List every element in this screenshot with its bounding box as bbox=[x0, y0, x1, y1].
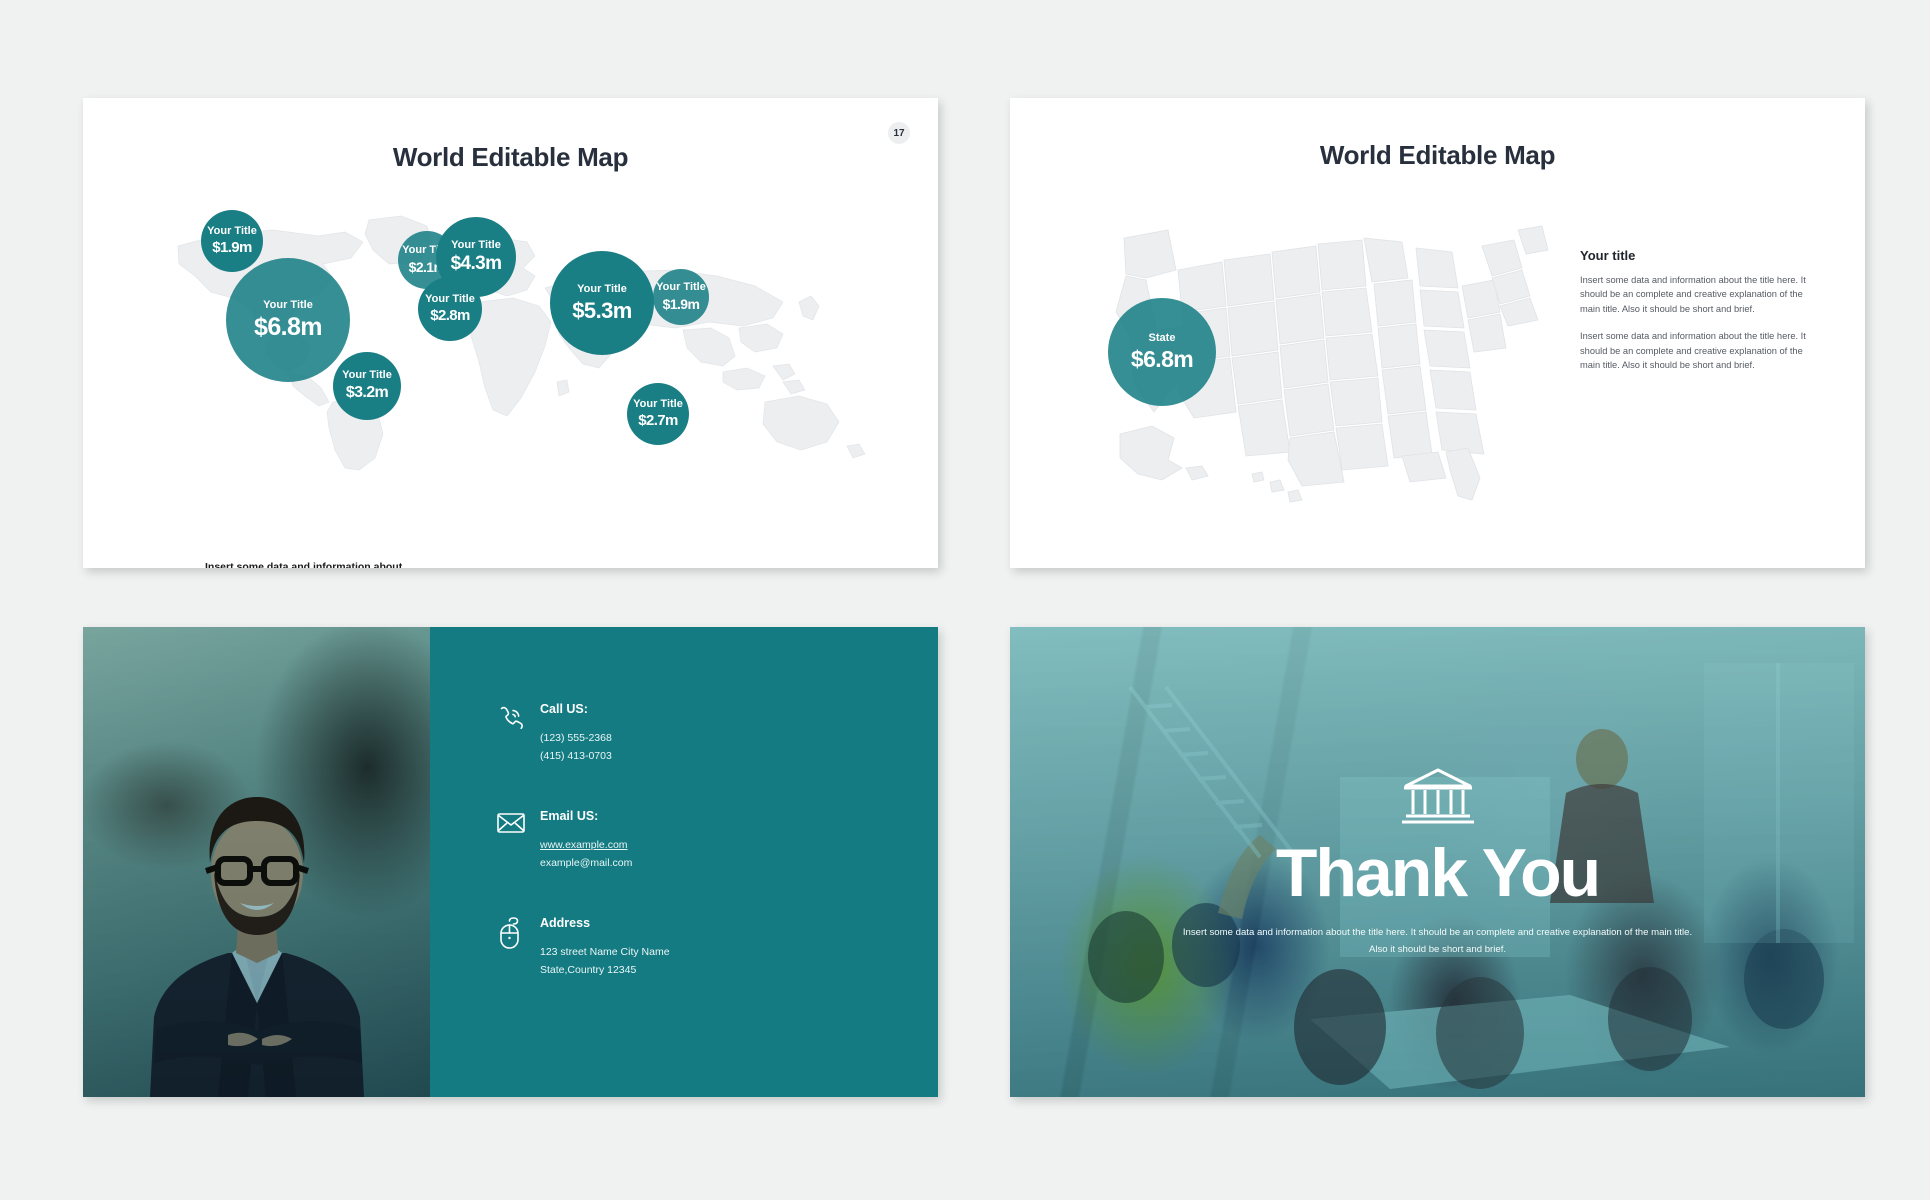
usa-state-bubble[interactable]: State $6.8m bbox=[1108, 298, 1216, 406]
contact-row-email[interactable]: Email US: www.example.com example@mail.c… bbox=[496, 808, 938, 873]
contact-line[interactable]: (415) 413-0703 bbox=[540, 747, 612, 765]
world-map-note: Insert some data and information about t… bbox=[205, 560, 405, 568]
contact-heading: Call US: bbox=[540, 702, 612, 716]
contact-heading: Address bbox=[540, 916, 670, 930]
thank-you-title: Thank You bbox=[1276, 839, 1599, 907]
page-title: World Editable Map bbox=[83, 142, 938, 173]
contact-line: State,Country 12345 bbox=[540, 961, 670, 979]
contact-line[interactable]: (123) 555-2368 bbox=[540, 729, 612, 747]
world-bubble-title: Your Title bbox=[342, 370, 392, 382]
contact-heading: Email US: bbox=[540, 809, 632, 823]
photo-teal-tint bbox=[83, 627, 430, 1097]
contact-body-phone: Call US: (123) 555-2368 (415) 413-0703 bbox=[540, 701, 612, 766]
world-bubble-value: $2.8m bbox=[430, 308, 470, 324]
contact-row-phone[interactable]: Call US: (123) 555-2368 (415) 413-0703 bbox=[496, 701, 938, 766]
world-bubble[interactable]: Your Title$6.8m bbox=[226, 258, 350, 382]
world-bubble-title: Your Title bbox=[207, 226, 257, 238]
contact-body-email: Email US: www.example.com example@mail.c… bbox=[540, 808, 632, 873]
usa-body-title: Your title bbox=[1580, 248, 1810, 263]
envelope-icon bbox=[496, 808, 540, 836]
contact-body-address: Address 123 street Name City Name State,… bbox=[540, 915, 670, 980]
slide-usa-map[interactable]: World Editable Map bbox=[1010, 98, 1865, 568]
page-number-badge: 17 bbox=[888, 122, 910, 144]
world-bubble-title: Your Title bbox=[577, 284, 627, 296]
world-bubble-title: Your Title bbox=[263, 300, 313, 312]
usa-paragraph-1: Insert some data and information about t… bbox=[1580, 273, 1810, 316]
usa-bubble-title: State bbox=[1149, 333, 1176, 345]
slide-world-map[interactable]: 17 World Editable Map bbox=[83, 98, 938, 568]
page-title: World Editable Map bbox=[1010, 140, 1865, 171]
contact-row-address[interactable]: Address 123 street Name City Name State,… bbox=[496, 915, 938, 980]
world-bubble[interactable]: Your Title$3.2m bbox=[333, 352, 401, 420]
contact-website-link[interactable]: www.example.com bbox=[540, 836, 632, 854]
world-bubble-value: $3.2m bbox=[346, 385, 388, 402]
slide-deck-canvas: 17 World Editable Map bbox=[0, 0, 1930, 1200]
world-bubble-value: $1.9m bbox=[212, 240, 252, 256]
world-bubble[interactable]: Your Title$2.8m bbox=[418, 277, 482, 341]
world-bubble-title: Your Title bbox=[633, 399, 683, 411]
phone-icon bbox=[496, 701, 540, 733]
usa-description-block: Your title Insert some data and informat… bbox=[1580, 248, 1810, 385]
world-bubble[interactable]: Your Title$1.9m bbox=[201, 210, 263, 272]
world-bubble[interactable]: Your Title$5.3m bbox=[550, 251, 654, 355]
world-bubble-title: Your Title bbox=[656, 282, 706, 294]
contact-line: 123 street Name City Name bbox=[540, 943, 670, 961]
contact-info-pane: Call US: (123) 555-2368 (415) 413-0703 E… bbox=[430, 627, 938, 1097]
world-bubble-value: $2.7m bbox=[638, 413, 678, 429]
world-bubble-value: $5.3m bbox=[572, 299, 631, 322]
usa-paragraph-2: Insert some data and information about t… bbox=[1580, 329, 1810, 372]
thank-you-content: Thank You Insert some data and informati… bbox=[1010, 627, 1865, 1097]
contact-portrait-photo bbox=[83, 627, 430, 1097]
world-bubble-title: Your Title bbox=[425, 294, 475, 306]
slide-thank-you[interactable]: Thank You Insert some data and informati… bbox=[1010, 627, 1865, 1097]
world-bubble-title: Your Title bbox=[451, 240, 501, 252]
world-bubble-value: $6.8m bbox=[254, 314, 322, 340]
contact-email-address[interactable]: example@mail.com bbox=[540, 854, 632, 872]
world-bubble-value: $1.9m bbox=[663, 297, 700, 312]
thank-you-subtitle: Insert some data and information about t… bbox=[1178, 925, 1698, 958]
world-bubble[interactable]: Your Title$1.9m bbox=[653, 269, 709, 325]
world-bubble-value: $4.3m bbox=[451, 254, 502, 274]
mouse-icon bbox=[496, 915, 540, 949]
slide-contact[interactable]: Call US: (123) 555-2368 (415) 413-0703 E… bbox=[83, 627, 938, 1097]
world-bubble[interactable]: Your Title$2.7m bbox=[627, 383, 689, 445]
usa-bubble-value: $6.8m bbox=[1131, 347, 1193, 371]
bank-building-icon bbox=[1400, 766, 1476, 833]
